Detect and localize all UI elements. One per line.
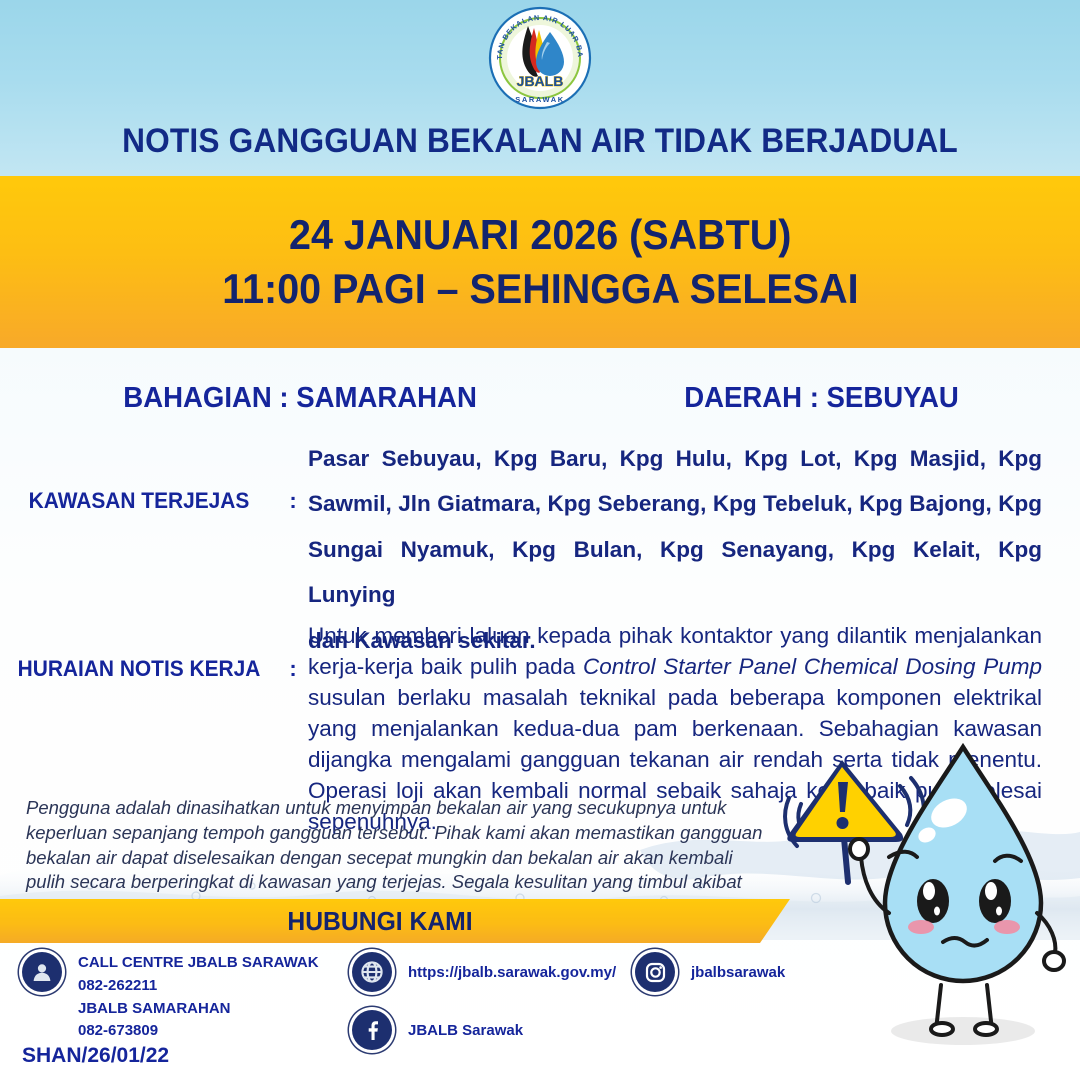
facebook-text: JBALB Sarawak (408, 1010, 523, 1043)
page-title: NOTIS GANGGUAN BEKALAN AIR TIDAK BERJADU… (38, 122, 1042, 161)
contact-instagram[interactable]: jbalbsarawak (635, 952, 785, 992)
instagram-icon (635, 952, 675, 992)
notice-time: 11:00 PAGI – SEHINGGA SELESAI (222, 262, 858, 316)
svg-text:SARAWAK: SARAWAK (515, 95, 565, 104)
banner-stripe-2 (813, 899, 859, 943)
jbalb-logo-icon: JBALB SARAWAK JABATAN BEKALAN AIR LUAR B… (488, 6, 592, 110)
affected-areas-label: KAWASAN TERJEJAS (7, 436, 271, 514)
contact-banner: HUBUNGI KAMI (0, 899, 1080, 943)
call-centre-text: CALL CENTRE JBALB SARAWAK 082-262211 JBA… (78, 952, 319, 1043)
body-area: BAHAGIAN : SAMARAHAN DAERAH : SEBUYAU KA… (0, 348, 1080, 798)
work-description-label: HURAIAN NOTIS KERJA (7, 620, 271, 682)
desc-equipment-name: Control Starter Panel Chemical Dosing Pu… (583, 654, 1042, 679)
work-description-colon: : (278, 620, 308, 682)
affected-areas-colon: : (278, 436, 308, 514)
instagram-text: jbalbsarawak (691, 952, 785, 985)
globe-icon (352, 952, 392, 992)
poster: JBALB SARAWAK JABATAN BEKALAN AIR LUAR B… (0, 0, 1080, 1080)
website-text: https://jbalb.sarawak.gov.my/ (408, 952, 616, 985)
contact-facebook[interactable]: JBALB Sarawak (352, 1010, 523, 1050)
person-icon (22, 952, 62, 992)
contact-banner-title: HUBUNGI KAMI (19, 899, 741, 943)
banner-stripe-1 (785, 899, 831, 943)
affected-areas-text: Pasar Sebuyau, Kpg Baru, Kpg Hulu, Kpg L… (308, 436, 1042, 618)
district-label: DAERAH : SEBUYAU (684, 382, 959, 415)
svg-text:JBALB: JBALB (517, 73, 564, 89)
contact-call-centre[interactable]: CALL CENTRE JBALB SARAWAK 082-262211 JBA… (22, 952, 319, 1043)
header-band: JBALB SARAWAK JABATAN BEKALAN AIR LUAR B… (0, 0, 1080, 176)
affected-areas-row: KAWASAN TERJEJAS : Pasar Sebuyau, Kpg Ba… (0, 436, 1080, 608)
region-row: BAHAGIAN : SAMARAHAN DAERAH : SEBUYAU (0, 382, 1080, 415)
notice-date: 24 JANUARI 2026 (SABTU) (289, 208, 791, 262)
contact-list: CALL CENTRE JBALB SARAWAK 082-262211 JBA… (0, 948, 1080, 1058)
division-label: BAHAGIAN : SAMARAHAN (124, 382, 478, 415)
facebook-icon (352, 1010, 392, 1050)
contact-website[interactable]: https://jbalb.sarawak.gov.my/ (352, 952, 616, 992)
reference-number: SHAN/26/01/22 (22, 1044, 169, 1068)
date-band: 24 JANUARI 2026 (SABTU) 11:00 PAGI – SEH… (0, 176, 1080, 348)
